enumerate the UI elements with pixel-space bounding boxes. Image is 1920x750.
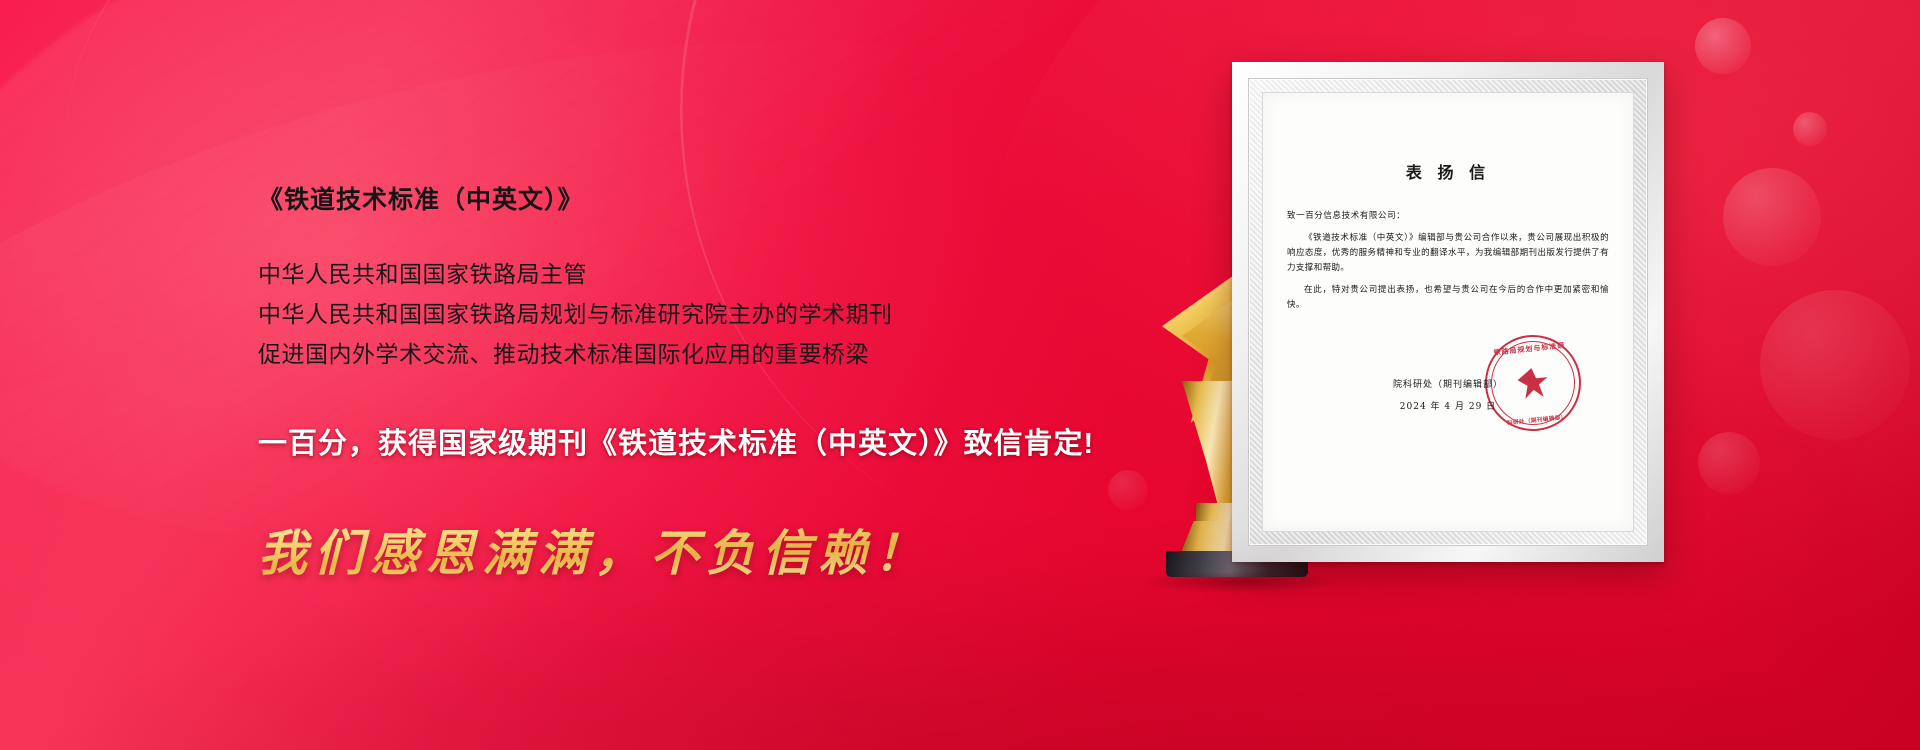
certificate-signature-area: 铁路局规划与标准研 科研处（期刊编辑部） 院科研处（期刊编辑部） 2024 年 …: [1287, 339, 1609, 435]
description-line-1: 中华人民共和国国家铁路局主管: [258, 254, 1218, 294]
certificate-salutation: 致一百分信息技术有限公司：: [1287, 209, 1609, 224]
signature-department: 院科研处（期刊编辑部）: [1287, 377, 1609, 390]
background-bubble-3: [1723, 168, 1821, 266]
certificate-spacer-1: [1287, 224, 1609, 231]
background-bubble-4: [1760, 290, 1910, 440]
certificate-frame: 表 扬 信 致一百分信息技术有限公司： 《铁道技术标准（中英文）》编辑部与贵公司…: [1232, 62, 1664, 562]
certificate-title: 表 扬 信: [1287, 159, 1609, 183]
certificate-paragraph-2: 在此，特对贵公司提出表扬，也希望与贵公司在今后的合作中更加紧密和愉快。: [1287, 283, 1609, 313]
description-line-2: 中华人民共和国国家铁路局规划与标准研究院主办的学术期刊: [258, 294, 1218, 334]
certificate-spacer-2: [1287, 276, 1609, 283]
background-bubble-1: [1695, 18, 1751, 74]
award-headline: 一百分，获得国家级期刊《铁道技术标准（中英文）》致信肯定!: [258, 420, 1218, 462]
award-banner: 《铁道技术标准（中英文）》 中华人民共和国国家铁路局主管 中华人民共和国国家铁路…: [0, 0, 1920, 750]
description-line-3: 促进国内外学术交流、推动技术标准国际化应用的重要桥梁: [258, 334, 1218, 374]
banner-text-block: 《铁道技术标准（中英文）》 中华人民共和国国家铁路局主管 中华人民共和国国家铁路…: [258, 180, 1218, 585]
background-bubble-2: [1793, 112, 1827, 146]
trophy-shadow: [1140, 571, 1340, 593]
journal-title: 《铁道技术标准（中英文）》: [258, 180, 1218, 216]
background-bubble-5: [1698, 432, 1760, 494]
signature-date: 2024 年 4 月 29 日: [1287, 399, 1609, 412]
certificate-paper: 表 扬 信 致一百分信息技术有限公司： 《铁道技术标准（中英文）》编辑部与贵公司…: [1262, 92, 1634, 532]
gratitude-calligraphy: 我们感恩满满，不负信赖！: [258, 514, 1218, 585]
certificate-paragraph-1: 《铁道技术标准（中英文）》编辑部与贵公司合作以来，贵公司展现出积极的响应态度，优…: [1287, 231, 1609, 276]
frame-inner-bevel: 表 扬 信 致一百分信息技术有限公司： 《铁道技术标准（中英文）》编辑部与贵公司…: [1248, 78, 1648, 546]
